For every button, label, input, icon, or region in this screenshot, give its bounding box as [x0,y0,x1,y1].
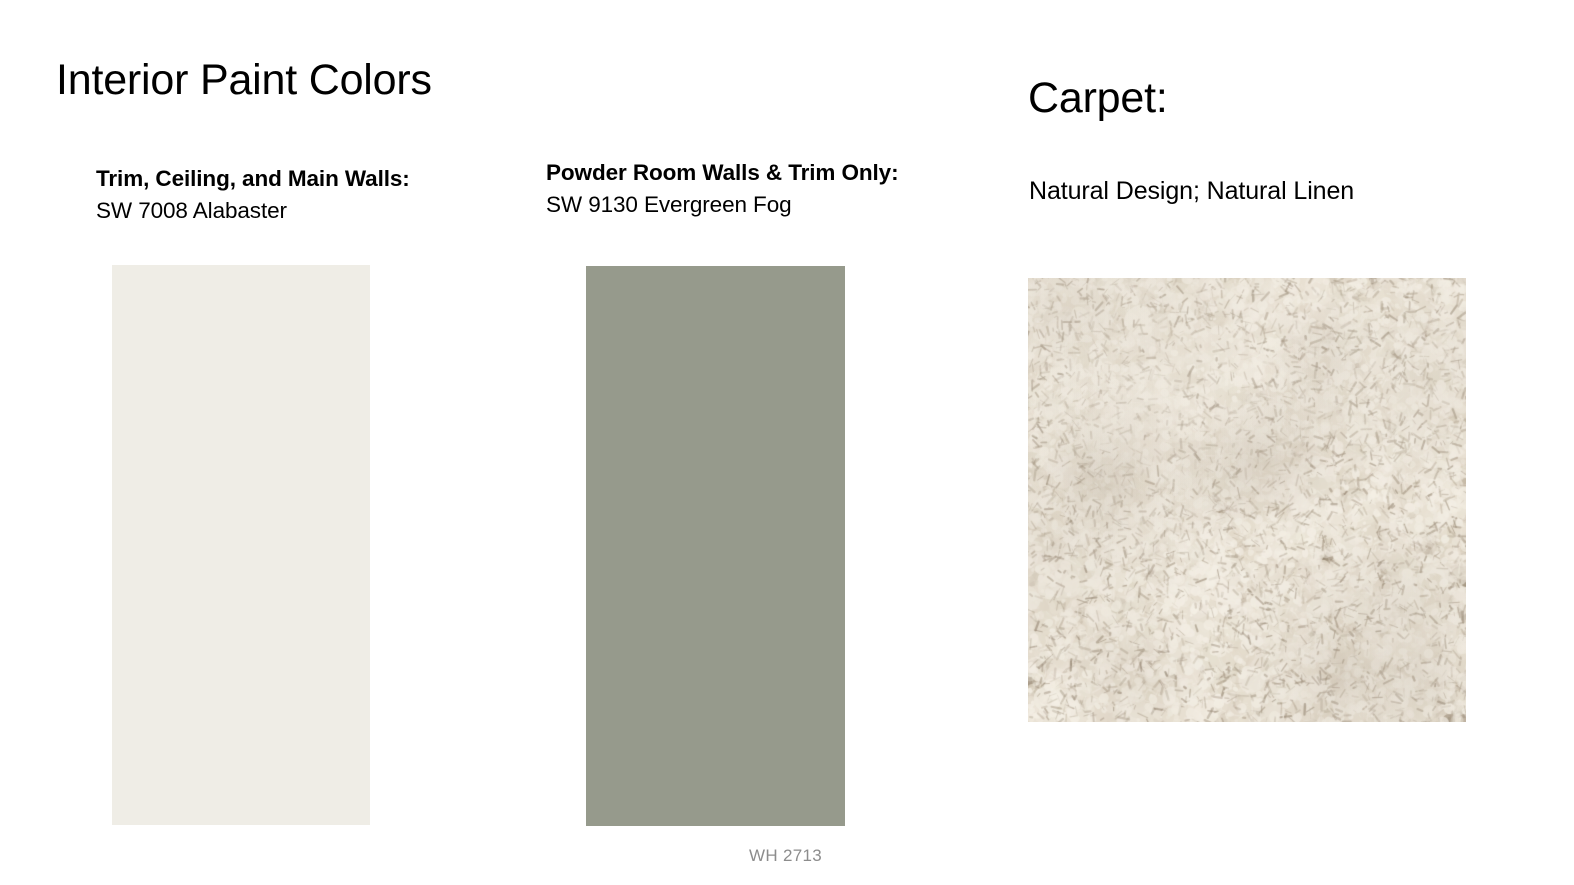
paint-color-name-alabaster: SW 7008 Alabaster [96,195,410,227]
paint-swatch-evergreen-fog [586,266,845,826]
paint-usage-label-alabaster: Trim, Ceiling, and Main Walls: [96,163,410,195]
carpet-column-heading: Natural Design; Natural Linen [1029,175,1354,208]
paint-color-name-evergreen-fog: SW 9130 Evergreen Fog [546,189,898,221]
footer-product-code: WH 2713 [749,846,822,866]
carpet-product-name: Natural Design; Natural Linen [1029,175,1354,208]
page-title-interior-paint-colors: Interior Paint Colors [56,58,432,103]
page-title-carpet: Carpet: [1028,76,1168,121]
slide-canvas: Interior Paint Colors Trim, Ceiling, and… [0,0,1574,885]
carpet-texture-image [1028,278,1466,722]
paint-column-heading-evergreen-fog: Powder Room Walls & Trim Only: SW 9130 E… [546,157,898,221]
paint-usage-label-evergreen-fog: Powder Room Walls & Trim Only: [546,157,898,189]
carpet-swatch-natural-linen [1028,278,1466,722]
paint-swatch-alabaster [112,265,370,825]
paint-column-heading-alabaster: Trim, Ceiling, and Main Walls: SW 7008 A… [96,163,410,227]
